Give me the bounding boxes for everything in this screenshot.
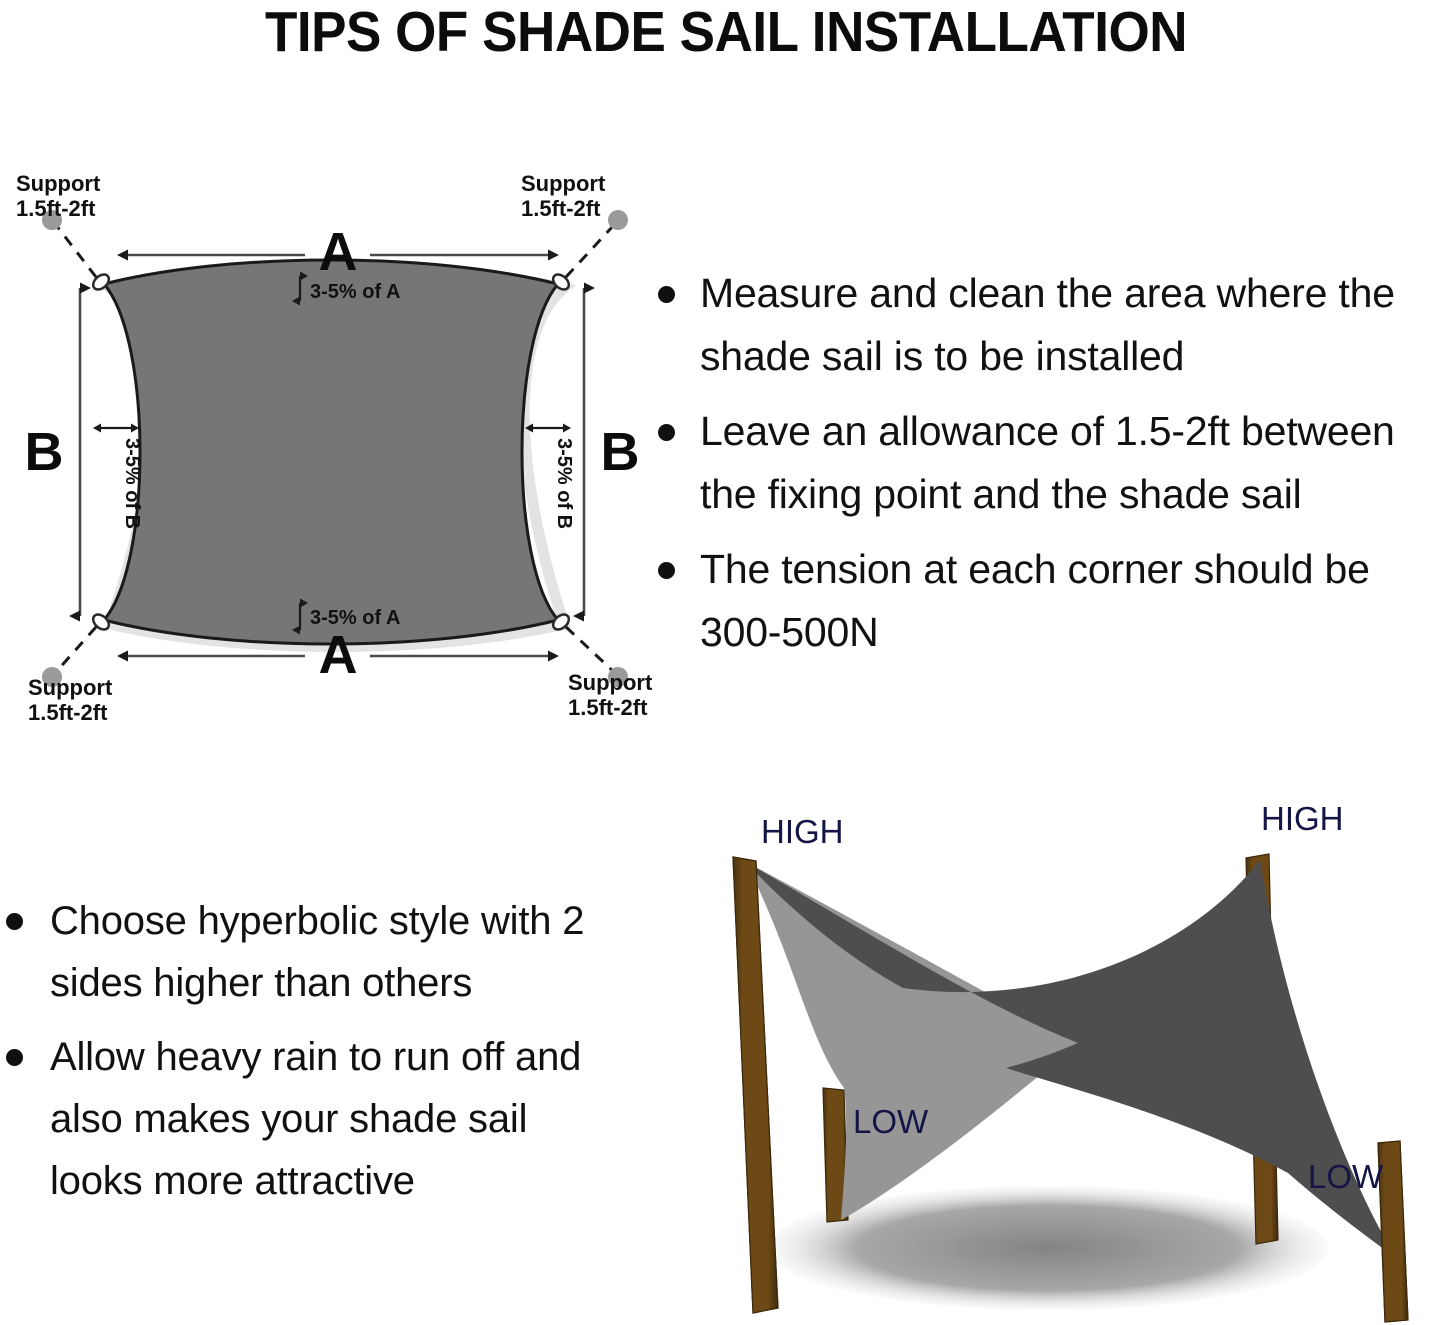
- hyperbolic-sail-svg: HIGH HIGH LOW LOW: [648, 788, 1452, 1325]
- page-title: TIPS OF SHADE SAIL INSTALLATION: [51, 0, 1401, 62]
- support-label-bl-line2: 1.5ft-2ft: [28, 700, 108, 725]
- sail-panel-light: [746, 862, 1078, 1220]
- support-dot-top-right: [608, 210, 628, 230]
- label-low-left: LOW: [853, 1103, 929, 1140]
- dimension-label-A-bottom: A: [319, 625, 358, 685]
- list-item: Allow heavy rain to run off and also mak…: [0, 1026, 630, 1212]
- tether-top-left: [56, 225, 96, 277]
- hyperbolic-tips-list: Choose hyperbolic style with 2 sides hig…: [0, 890, 630, 1240]
- shade-sail-body: [104, 260, 558, 644]
- bullet-icon: [658, 424, 675, 441]
- pole-high-left-front: [733, 857, 778, 1313]
- label-high-left: HIGH: [761, 813, 844, 850]
- bullet-icon: [6, 913, 23, 930]
- support-label-br-line2: 1.5ft-2ft: [568, 695, 648, 720]
- list-item: Measure and clean the area where the sha…: [648, 262, 1452, 388]
- tether-bottom-left: [56, 627, 96, 672]
- hyperbolic-sail-diagram: HIGH HIGH LOW LOW: [648, 788, 1452, 1325]
- list-item-text: Measure and clean the area where the sha…: [700, 270, 1395, 379]
- sail-dimension-svg: Support 1.5ft-2ft Support 1.5ft-2ft Supp…: [0, 160, 660, 740]
- sail-dimension-diagram: Support 1.5ft-2ft Support 1.5ft-2ft Supp…: [0, 160, 660, 740]
- list-item: Choose hyperbolic style with 2 sides hig…: [0, 890, 630, 1014]
- bullet-icon: [658, 562, 675, 579]
- support-label-br-line1: Support: [568, 670, 653, 695]
- list-item: The tension at each corner should be 300…: [648, 538, 1452, 664]
- curve-label-top: 3-5% of A: [310, 281, 400, 303]
- support-label-tl-line2: 1.5ft-2ft: [16, 196, 96, 221]
- tether-top-right: [566, 225, 614, 277]
- tips-list: Measure and clean the area where the sha…: [648, 262, 1452, 664]
- list-item-text: Allow heavy rain to run off and also mak…: [50, 1035, 581, 1203]
- dimension-label-B-left: B: [25, 422, 64, 482]
- bullet-icon: [6, 1049, 23, 1066]
- installation-tips-list: Measure and clean the area where the sha…: [648, 262, 1452, 662]
- support-label-tr-line2: 1.5ft-2ft: [521, 196, 601, 221]
- dimension-label-A-top: A: [319, 222, 358, 282]
- curve-label-left: 3-5% of B: [121, 438, 143, 529]
- list-item: Leave an allowance of 1.5-2ft between th…: [648, 400, 1452, 526]
- support-label-tr-line1: Support: [521, 171, 606, 196]
- curve-label-bottom: 3-5% of A: [310, 607, 400, 629]
- list-item-text: Choose hyperbolic style with 2 sides hig…: [50, 899, 584, 1005]
- support-label-bl-line1: Support: [28, 675, 113, 700]
- support-label-tl-line1: Support: [16, 171, 101, 196]
- label-high-right: HIGH: [1261, 800, 1344, 837]
- list-item-text: Leave an allowance of 1.5-2ft between th…: [700, 408, 1395, 517]
- tether-bottom-right: [566, 627, 614, 672]
- curve-label-right: 3-5% of B: [553, 438, 575, 529]
- label-low-right: LOW: [1308, 1158, 1384, 1195]
- bullet-icon: [658, 286, 675, 303]
- dimension-label-B-right: B: [601, 422, 640, 482]
- hyperbolic-list: Choose hyperbolic style with 2 sides hig…: [0, 890, 630, 1212]
- list-item-text: The tension at each corner should be 300…: [700, 546, 1370, 655]
